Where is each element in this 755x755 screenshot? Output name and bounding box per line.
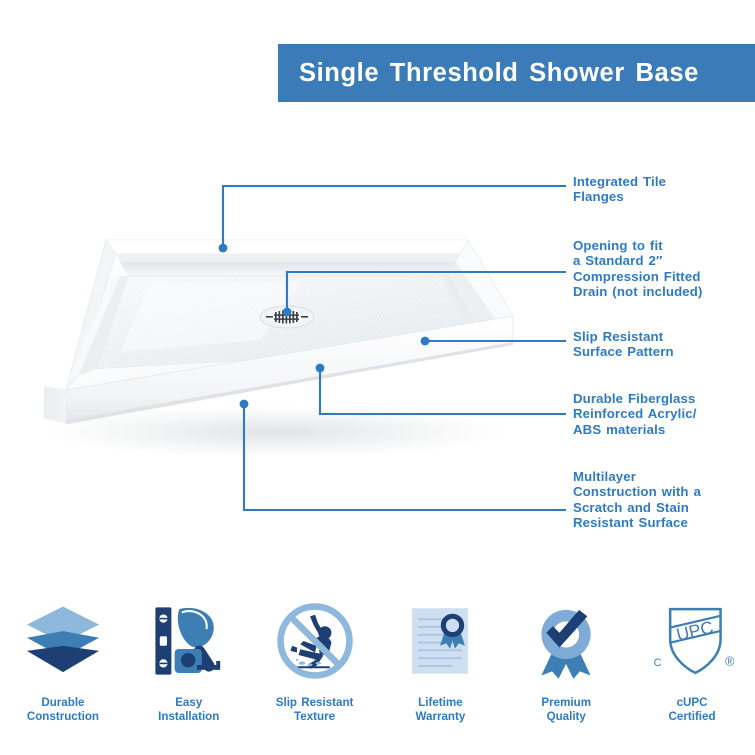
upc-shield-icon: UPC C ® xyxy=(649,598,735,684)
feature-label-durable-construction: Durable Construction xyxy=(27,696,99,724)
certificate-document-icon xyxy=(397,598,483,684)
feature-lifetime-warranty: Lifetime Warranty xyxy=(377,588,503,755)
page-title: Single Threshold Shower Base xyxy=(278,59,699,88)
feature-label-easy-installation: Easy Installation xyxy=(158,696,219,724)
feature-cupc-certified: UPC C ® cUPC Certified xyxy=(629,588,755,755)
infographic-canvas: Single Threshold Shower Base Integrated … xyxy=(0,0,755,755)
registered-mark-text: ® xyxy=(725,654,734,668)
layers-stack-icon xyxy=(20,598,106,684)
feature-slip-resistant-texture: Slip Resistant Texture xyxy=(252,588,378,755)
feature-badges-row: Durable Construction xyxy=(0,588,755,755)
feature-label-lifetime-warranty: Lifetime Warranty xyxy=(415,696,465,724)
callout-label-durable-fiberglass-materials: Durable Fiberglass Reinforced Acrylic/ A… xyxy=(573,391,697,437)
cupc-prefix-text: C xyxy=(654,657,662,669)
feature-premium-quality: Premium Quality xyxy=(503,588,629,755)
feature-label-cupc-certified: cUPC Certified xyxy=(669,696,716,724)
feature-easy-installation: Easy Installation xyxy=(126,588,252,755)
callout-label-drain-opening: Opening to fit a Standard 2″ Compression… xyxy=(573,238,703,300)
callout-label-multilayer-construction: Multilayer Construction with a Scratch a… xyxy=(573,469,701,531)
drain-opening-icon xyxy=(260,306,314,328)
callout-label-integrated-tile-flanges: Integrated Tile Flanges xyxy=(573,174,666,205)
feature-label-premium-quality: Premium Quality xyxy=(541,696,591,724)
no-slip-prohibition-icon xyxy=(272,598,358,684)
level-trowel-tape-icon xyxy=(146,598,232,684)
feature-label-slip-resistant-texture: Slip Resistant Texture xyxy=(276,696,354,724)
check-rosette-icon xyxy=(523,598,609,684)
header-banner: Single Threshold Shower Base xyxy=(278,44,755,102)
callout-label-slip-resistant-surface-pattern: Slip Resistant Surface Pattern xyxy=(573,329,674,360)
feature-durable-construction: Durable Construction xyxy=(0,588,126,755)
